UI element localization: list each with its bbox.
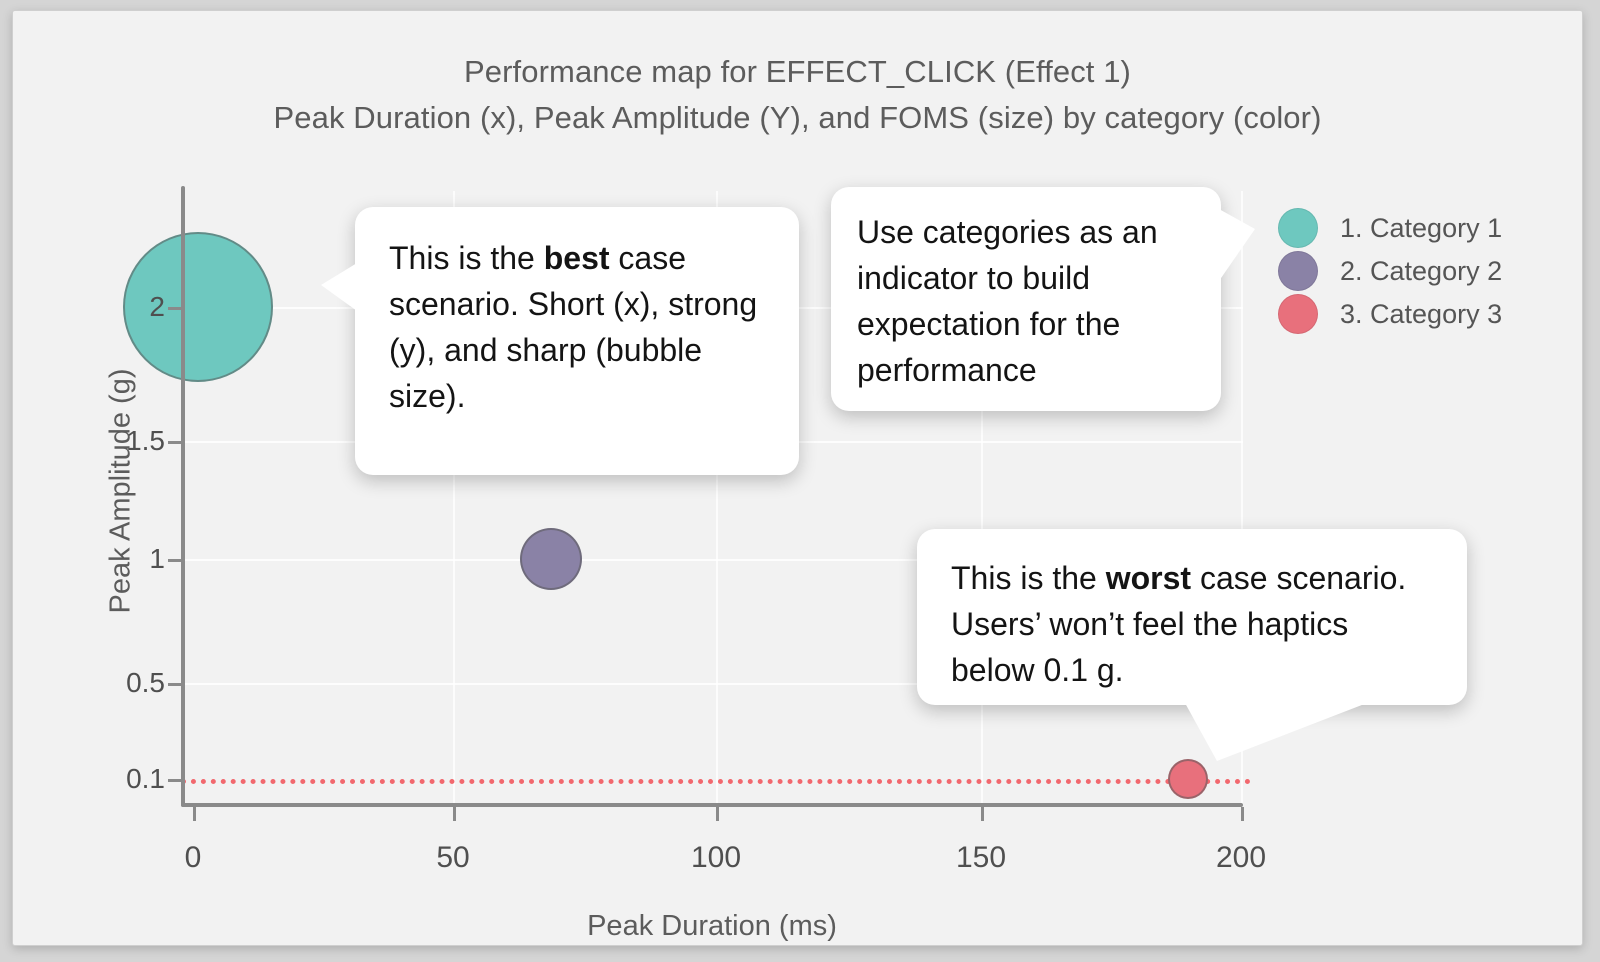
chart-title: Performance map for EFFECT_CLICK (Effect… (13, 49, 1582, 141)
callout-worst-case-text: This is the worst case scenario. Users’ … (951, 555, 1439, 693)
legend-item-label: 1. Category 1 (1340, 213, 1502, 244)
legend: 1. Category 1 2. Category 2 3. Category … (1278, 207, 1558, 336)
callout-worst-strong: worst (1106, 560, 1191, 596)
x-tick-mark (981, 807, 984, 821)
legend-item-label: 2. Category 2 (1340, 256, 1502, 287)
y-tick-label: 0.1 (45, 763, 165, 795)
legend-item-category-1[interactable]: 1. Category 1 (1278, 207, 1558, 249)
callout-tail-icon (1219, 209, 1255, 281)
x-axis-spine (181, 803, 1243, 807)
figure-card: Performance map for EFFECT_CLICK (Effect… (12, 10, 1583, 946)
y-axis-title: Peak Amplitude (g) (105, 368, 138, 613)
callout-tail-icon (321, 263, 357, 311)
callout-tail-icon (1185, 703, 1367, 761)
callout-best-strong: best (544, 240, 610, 276)
x-tick-label: 50 (436, 841, 469, 875)
x-tick-mark (716, 807, 719, 821)
y-tick-label: 2 (45, 291, 165, 323)
y-tick-mark (168, 779, 181, 782)
x-tick-label: 0 (185, 841, 202, 875)
y-axis-spine (181, 186, 185, 807)
x-tick-mark (1241, 807, 1244, 821)
callout-categories-text: Use categories as an indicator to build … (857, 209, 1195, 393)
bubble-category-2[interactable] (520, 528, 582, 590)
chart-title-line-1: Performance map for EFFECT_CLICK (Effect… (13, 49, 1582, 95)
callout-best-prefix: This is the (389, 240, 544, 276)
legend-swatch-icon (1278, 294, 1318, 334)
legend-swatch-icon (1278, 251, 1318, 291)
y-tick-mark (168, 441, 181, 444)
chart-title-line-2: Peak Duration (x), Peak Amplitude (Y), a… (13, 95, 1582, 141)
x-tick-mark (453, 807, 456, 821)
callout-best-case-text: This is the best case scenario. Short (x… (389, 235, 769, 419)
x-axis-title: Peak Duration (ms) (587, 910, 837, 943)
callout-best-case[interactable]: This is the best case scenario. Short (x… (355, 207, 799, 475)
callout-categories[interactable]: Use categories as an indicator to build … (831, 187, 1221, 411)
legend-swatch-icon (1278, 208, 1318, 248)
x-tick-label: 150 (956, 841, 1006, 875)
y-tick-label: 0.5 (45, 667, 165, 699)
x-tick-mark (193, 807, 196, 821)
bubble-category-3[interactable] (1168, 759, 1208, 799)
y-tick-mark (168, 683, 181, 686)
screenshot-root: Performance map for EFFECT_CLICK (Effect… (0, 0, 1600, 962)
y-tick-mark (168, 307, 181, 310)
threshold-line (181, 779, 1251, 784)
legend-item-label: 3. Category 3 (1340, 299, 1502, 330)
legend-item-category-3[interactable]: 3. Category 3 (1278, 293, 1558, 335)
callout-worst-prefix: This is the (951, 560, 1106, 596)
callout-worst-case[interactable]: This is the worst case scenario. Users’ … (917, 529, 1467, 705)
x-tick-label: 200 (1216, 841, 1266, 875)
y-tick-mark (168, 559, 181, 562)
x-tick-label: 100 (691, 841, 741, 875)
legend-item-category-2[interactable]: 2. Category 2 (1278, 250, 1558, 292)
